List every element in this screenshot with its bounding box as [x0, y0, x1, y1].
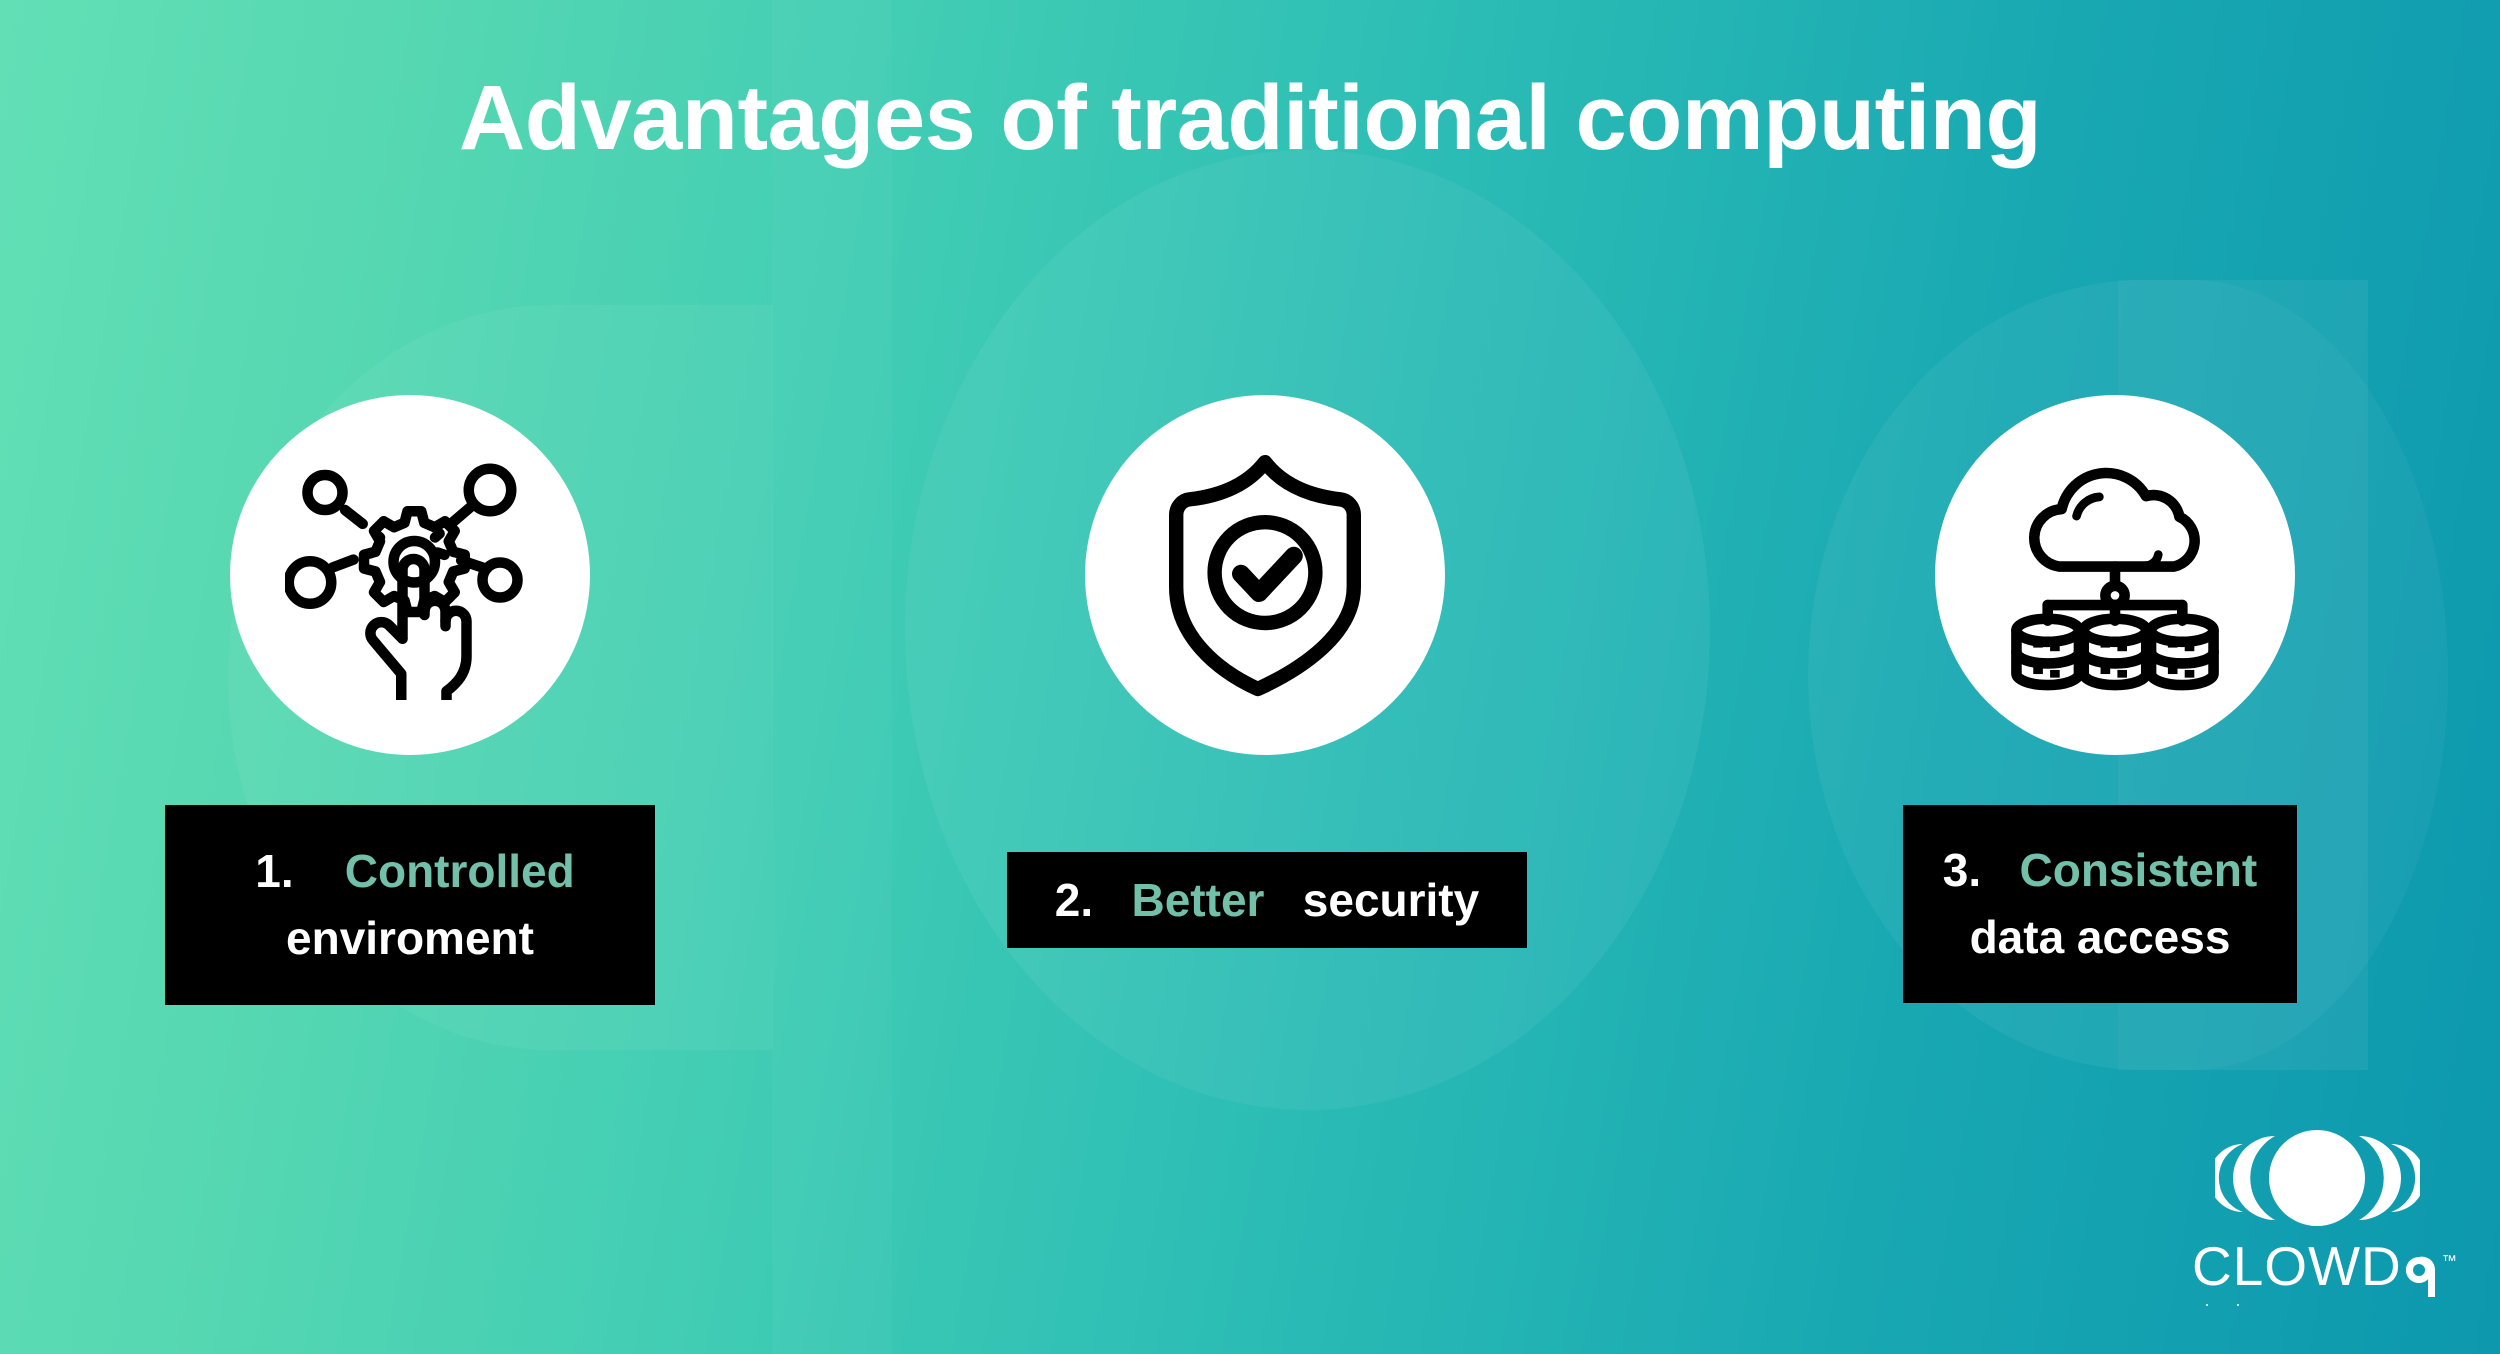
- label-number: 2.: [1055, 874, 1093, 926]
- logo-dots: · ·: [2192, 1300, 2442, 1308]
- label-number: 1.: [255, 845, 293, 897]
- slide-title: Advantages of traditional computing: [0, 70, 2500, 167]
- label-rest: security: [1303, 874, 1479, 926]
- label-consistent-data-access: 3. Consistent data access: [1903, 805, 2297, 1003]
- label-line-primary: 1. Controlled: [165, 838, 655, 905]
- icon-badge-controlled-environment: [230, 395, 590, 755]
- hand-touching-gear-network-icon: [285, 450, 535, 700]
- logo-wordmark: CLOWD ™: [2192, 1234, 2442, 1298]
- logo-trademark: ™: [2442, 1253, 2457, 1270]
- clowd-logo: CLOWD ™ · ·: [2192, 1128, 2442, 1328]
- icon-badge-consistent-data-access: [1935, 395, 2295, 755]
- label-line-secondary: data access: [1903, 904, 2297, 971]
- label-line-secondary: enviroment: [165, 905, 655, 972]
- slide-canvas: Advantages of traditional computing: [0, 0, 2500, 1354]
- label-line-primary: 3. Consistent: [1903, 837, 2297, 904]
- background-watermark-sliver: [772, 0, 892, 1354]
- shield-check-icon: [1145, 450, 1385, 700]
- label-highlight: Better: [1132, 874, 1265, 926]
- icon-badge-better-security: [1085, 395, 1445, 755]
- cloud-database-network-icon: [1990, 450, 2240, 700]
- logo-wordmark-text: CLOWD: [2192, 1235, 2402, 1297]
- label-better-security: 2. Better security: [1007, 852, 1527, 948]
- label-highlight: Consistent: [2020, 844, 2258, 896]
- label-controlled-environment: 1. Controlled enviroment: [165, 805, 655, 1005]
- label-highlight: Controlled: [345, 845, 575, 897]
- label-number: 3.: [1943, 844, 1981, 896]
- label-line-primary: 2. Better security: [1007, 867, 1527, 934]
- cloud-mark-icon: [2215, 1128, 2420, 1228]
